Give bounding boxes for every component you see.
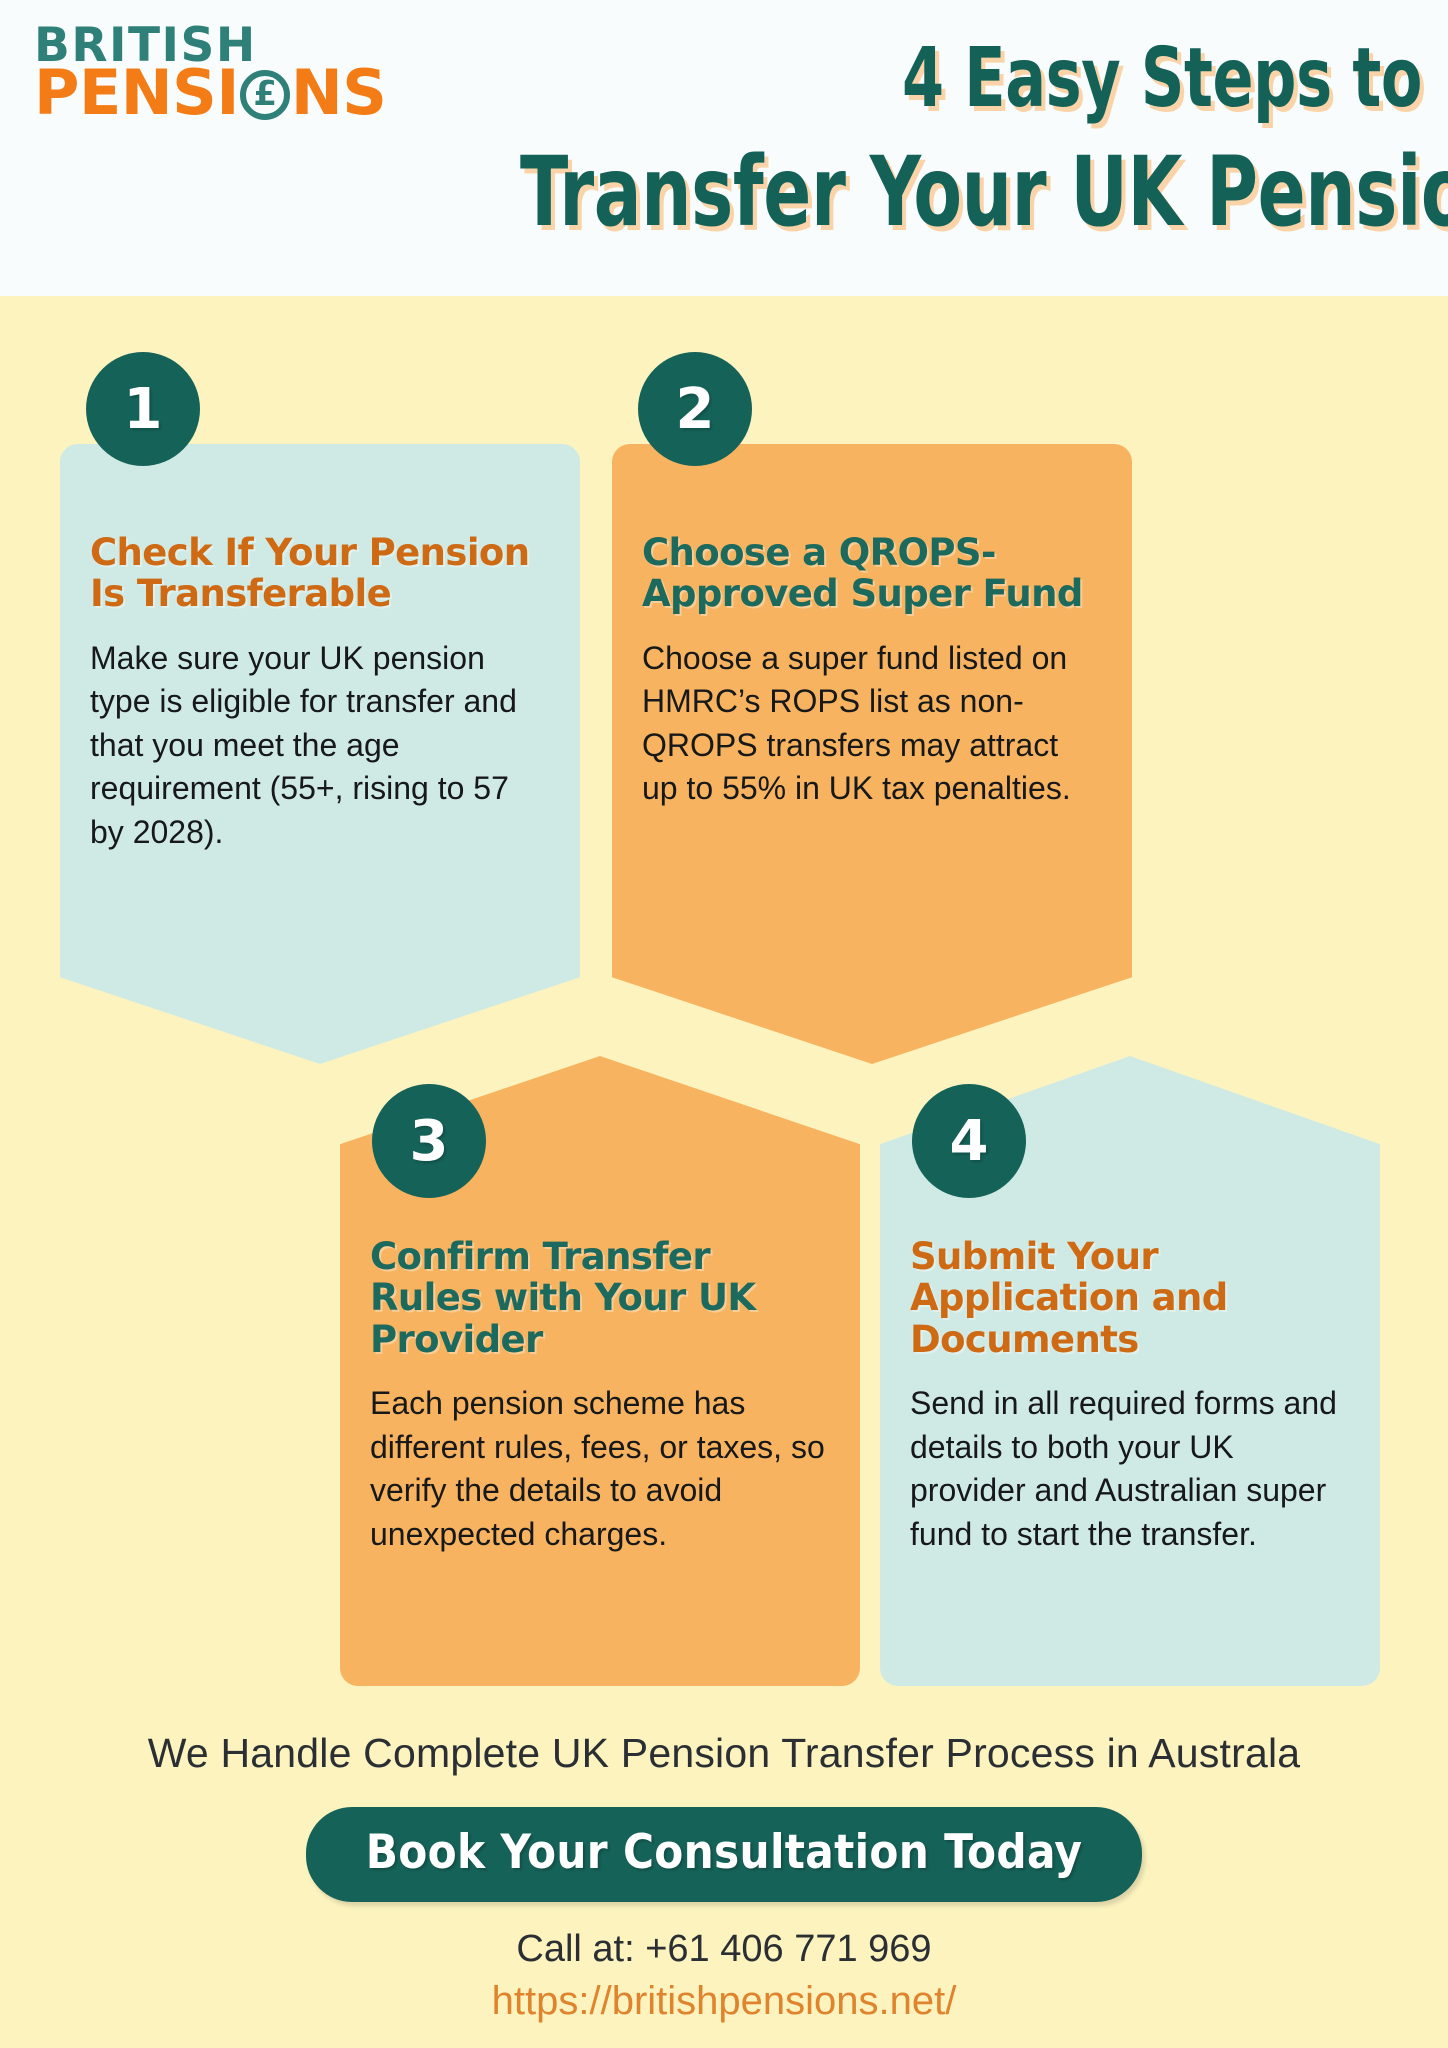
step-text-4: Send in all required forms and details t… [910,1382,1350,1556]
step-heading-3: Confirm Transfer Rules with Your UK Prov… [370,1236,830,1360]
poster-footer: We Handle Complete UK Pension Transfer P… [0,1730,1448,2048]
step-text-2: Choose a super fund listed on HMRC’s ROP… [642,637,1102,811]
step-heading-2: Choose a QROPS-Approved Super Fund [642,532,1102,615]
steps-row-top: 1 Check If Your Pension Is Transferable … [0,296,1448,1056]
title-line-1: 4 Easy Steps to [520,38,1422,120]
title-line-2: Transfer Your UK Pension to Australia [520,144,1422,240]
step-card-2[interactable]: 2 Choose a QROPS-Approved Super Fund Cho… [612,444,1132,1064]
step-number-4: 4 [950,1109,989,1174]
step-text-3: Each pension scheme has different rules,… [370,1382,830,1556]
infographic-poster: BRITISH PENSI £ NS 4 Easy Steps to Trans… [0,0,1448,2048]
step-number-badge-3: 3 [372,1084,486,1198]
page-title: 4 Easy Steps to Transfer Your UK Pension… [322,38,1422,240]
step-heading-1: Check If Your Pension Is Transferable [90,532,550,615]
footer-tagline: We Handle Complete UK Pension Transfer P… [0,1730,1448,1777]
poster-header: BRITISH PENSI £ NS 4 Easy Steps to Trans… [0,0,1448,296]
step-card-1-body: Check If Your Pension Is Transferable Ma… [60,444,580,854]
step-text-1: Make sure your UK pension type is eligib… [90,637,550,855]
step-card-2-body: Choose a QROPS-Approved Super Fund Choos… [612,444,1132,811]
logo-pensi-part: PENSI [34,66,239,119]
book-consultation-button[interactable]: Book Your Consultation Today [306,1807,1142,1902]
step-card-3[interactable]: 3 Confirm Transfer Rules with Your UK Pr… [340,1056,860,1686]
step-card-4[interactable]: 4 Submit Your Application and Documents … [880,1056,1380,1686]
step-number-badge-1: 1 [86,352,200,466]
step-number-badge-2: 2 [638,352,752,466]
pound-sterling-icon: £ [240,70,290,120]
website-url-link[interactable]: https://britishpensions.net/ [0,1979,1448,2024]
step-number-2: 2 [676,377,715,442]
contact-phone[interactable]: Call at: +61 406 771 969 [0,1928,1448,1971]
step-number-3: 3 [410,1109,449,1174]
steps-row-bottom: 3 Confirm Transfer Rules with Your UK Pr… [0,1056,1448,1616]
step-card-1[interactable]: 1 Check If Your Pension Is Transferable … [60,444,580,1064]
step-number-badge-4: 4 [912,1084,1026,1198]
step-heading-4: Submit Your Application and Documents [910,1236,1350,1360]
step-number-1: 1 [124,377,163,442]
steps-container: 1 Check If Your Pension Is Transferable … [0,296,1448,1616]
